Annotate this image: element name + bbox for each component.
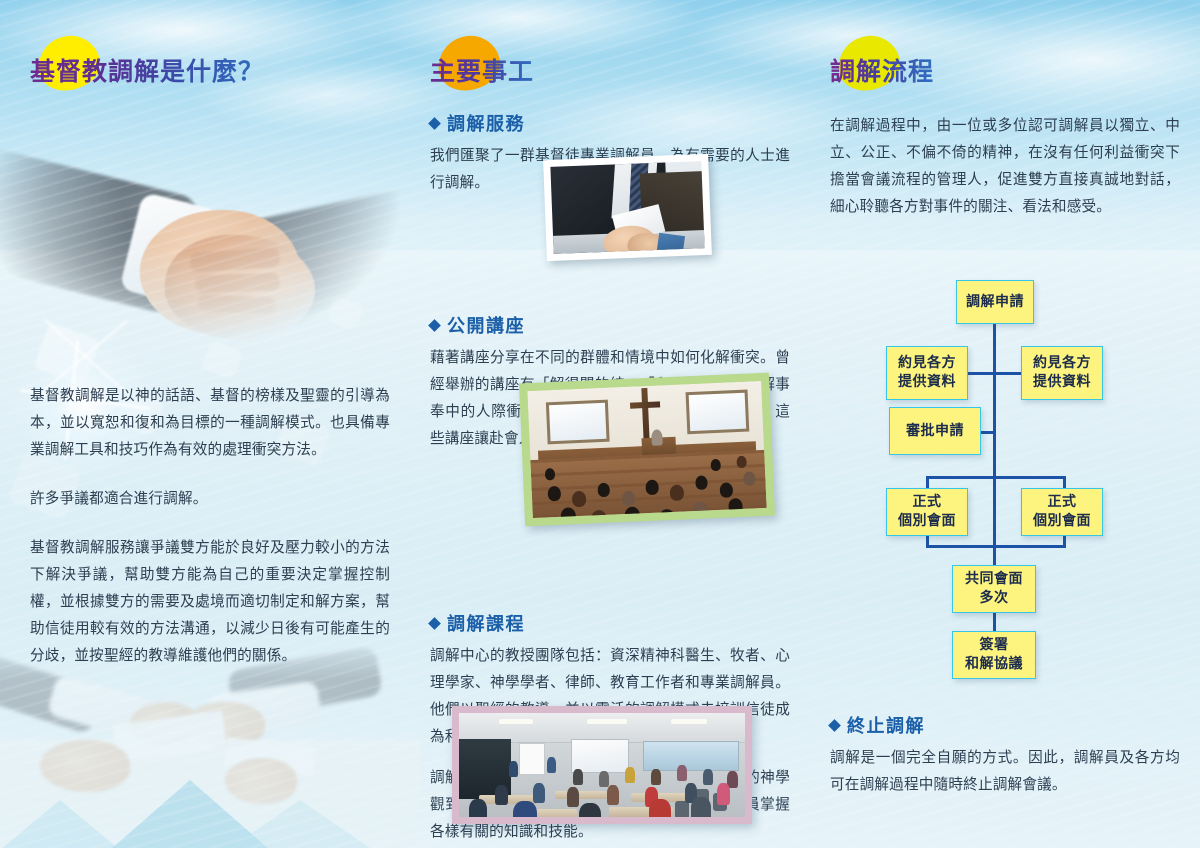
- subsection-public-seminar-heading: 公開講座: [430, 312, 790, 338]
- flow-line-split-top: [926, 476, 1066, 479]
- flow-node-meet-right[interactable]: 約見各方 提供資料: [1021, 346, 1103, 400]
- left-paragraph-1: 基督教調解是以神的話語、基督的榜樣及聖靈的引導為本，並以寬恕和復和為目標的一種調…: [30, 382, 390, 463]
- diamond-bullet-icon: [428, 319, 441, 332]
- flow-node-formal-right[interactable]: 正式 個別會面: [1021, 488, 1103, 536]
- flow-line-branch-r2: [980, 431, 996, 434]
- flow-node-apply[interactable]: 調解申請: [956, 280, 1034, 324]
- flow-line-spine: [993, 320, 996, 566]
- auditorium-photo: [519, 373, 775, 527]
- flow-node-line: 多次: [980, 589, 1009, 608]
- right-heading: 調解流程: [830, 52, 934, 88]
- subsection-mediation-service-heading: 調解服務: [430, 110, 790, 136]
- flow-node-line: 正式: [913, 493, 942, 512]
- flow-node-sign[interactable]: 簽署 和解協議: [952, 631, 1036, 679]
- diamond-bullet-icon: [428, 617, 441, 630]
- right-heading-wrap: 調解流程: [830, 36, 1180, 98]
- subsection-title: 終止調解: [847, 712, 925, 738]
- flow-node-formal-left[interactable]: 正式 個別會面: [886, 488, 968, 536]
- terminate-heading: 終止調解: [830, 712, 1180, 738]
- diamond-bullet-icon: [828, 719, 841, 732]
- flow-node-line: 提供資料: [898, 373, 956, 392]
- flow-node-line: 簽署: [980, 636, 1009, 655]
- flow-node-line: 調解申請: [966, 293, 1024, 312]
- flow-line-merge-bot: [926, 545, 1066, 548]
- flow-node-line: 約見各方: [898, 354, 956, 373]
- left-heading: 基督教調解是什麼？: [30, 52, 264, 88]
- flow-node-meet-left[interactable]: 約見各方 提供資料: [886, 346, 968, 400]
- terminate-paragraph: 調解是一個完全自願的方式。因此，調解員及各方均可在調解過程中隨時終止調解會議。: [830, 744, 1180, 798]
- left-heading-wrap: 基督教調解是什麼？: [30, 36, 390, 98]
- flow-node-line: 個別會面: [898, 512, 956, 531]
- mediation-process-flowchart: 調解申請 約見各方 提供資料 約見各方 提供資料 審批申請 正式 個別會面 正式…: [880, 276, 1120, 636]
- right-intro-paragraph: 在調解過程中，由一位或多位認可調解員以獨立、中立、公正、不偏不倚的精神，在沒有任…: [830, 112, 1180, 220]
- subsection-mediation-course-heading: 調解課程: [430, 610, 790, 636]
- left-paragraph-3: 基督教調解服務讓爭議雙方能於良好及壓力較小的方法下解決爭議，幫助雙方能為自己的重…: [30, 534, 390, 669]
- subsection-title: 公開講座: [447, 312, 525, 338]
- middle-heading-wrap: 主要事工: [430, 36, 790, 98]
- flow-node-line: 和解協議: [965, 655, 1023, 674]
- flow-node-line: 正式: [1048, 493, 1077, 512]
- flow-node-line: 約見各方: [1033, 354, 1091, 373]
- flow-node-line: 共同會面: [965, 570, 1023, 589]
- diamond-bullet-icon: [428, 117, 441, 130]
- flow-line-branch-r1l: [964, 372, 996, 375]
- flow-node-line: 審批申請: [906, 422, 964, 441]
- terminate-mediation-block: 終止調解 調解是一個完全自願的方式。因此，調解員及各方均可在調解過程中隨時終止調…: [830, 712, 1180, 804]
- column-right: 調解流程 在調解過程中，由一位或多位認可調解員以獨立、中立、公正、不偏不倚的精神…: [830, 36, 1180, 242]
- column-left: 基督教調解是什麼？ 基督教調解是以神的話語、基督的榜樣及聖靈的引導為本，並以寬恕…: [30, 36, 390, 691]
- subsection-title: 調解課程: [447, 610, 525, 636]
- middle-heading: 主要事工: [430, 52, 534, 88]
- flow-node-review[interactable]: 審批申請: [889, 407, 981, 455]
- flow-node-joint[interactable]: 共同會面 多次: [952, 565, 1036, 613]
- flow-node-line: 提供資料: [1033, 373, 1091, 392]
- brochure-page: 基督教調解是什麼？ 基督教調解是以神的話語、基督的榜樣及聖靈的引導為本，並以寬恕…: [0, 0, 1200, 848]
- flow-line-to-joint: [993, 545, 996, 567]
- flow-node-line: 個別會面: [1033, 512, 1091, 531]
- left-paragraph-2: 許多爭議都適合進行調解。: [30, 485, 390, 512]
- classroom-photo: [452, 706, 752, 824]
- subsection-title: 調解服務: [447, 110, 525, 136]
- mediation-photo: [543, 154, 712, 261]
